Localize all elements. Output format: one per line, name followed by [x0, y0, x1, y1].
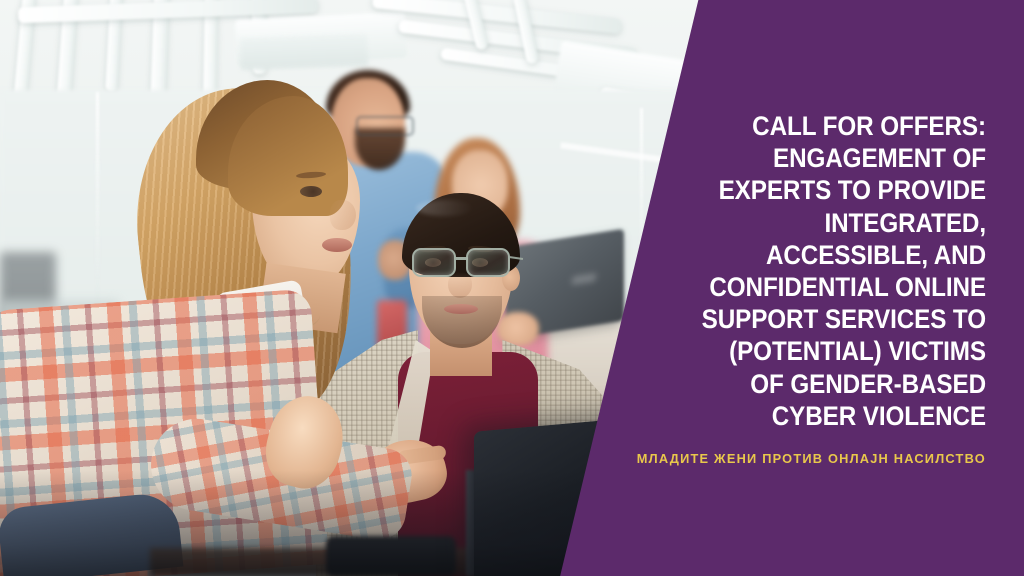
eyeglasses-icon: [410, 248, 516, 278]
banner-headline: CALL FOR OFFERS: ENGAGEMENT OF EXPERTS T…: [693, 110, 986, 432]
banner-text-block: CALL FOR OFFERS: ENGAGEMENT OF EXPERTS T…: [694, 0, 986, 576]
promo-banner: CALL FOR OFFERS: ENGAGEMENT OF EXPERTS T…: [0, 0, 1024, 576]
banner-subtitle: МЛАДИТЕ ЖЕНИ ПРОТИВ ОНЛАЈН НАСИЛСТВО: [637, 451, 986, 466]
